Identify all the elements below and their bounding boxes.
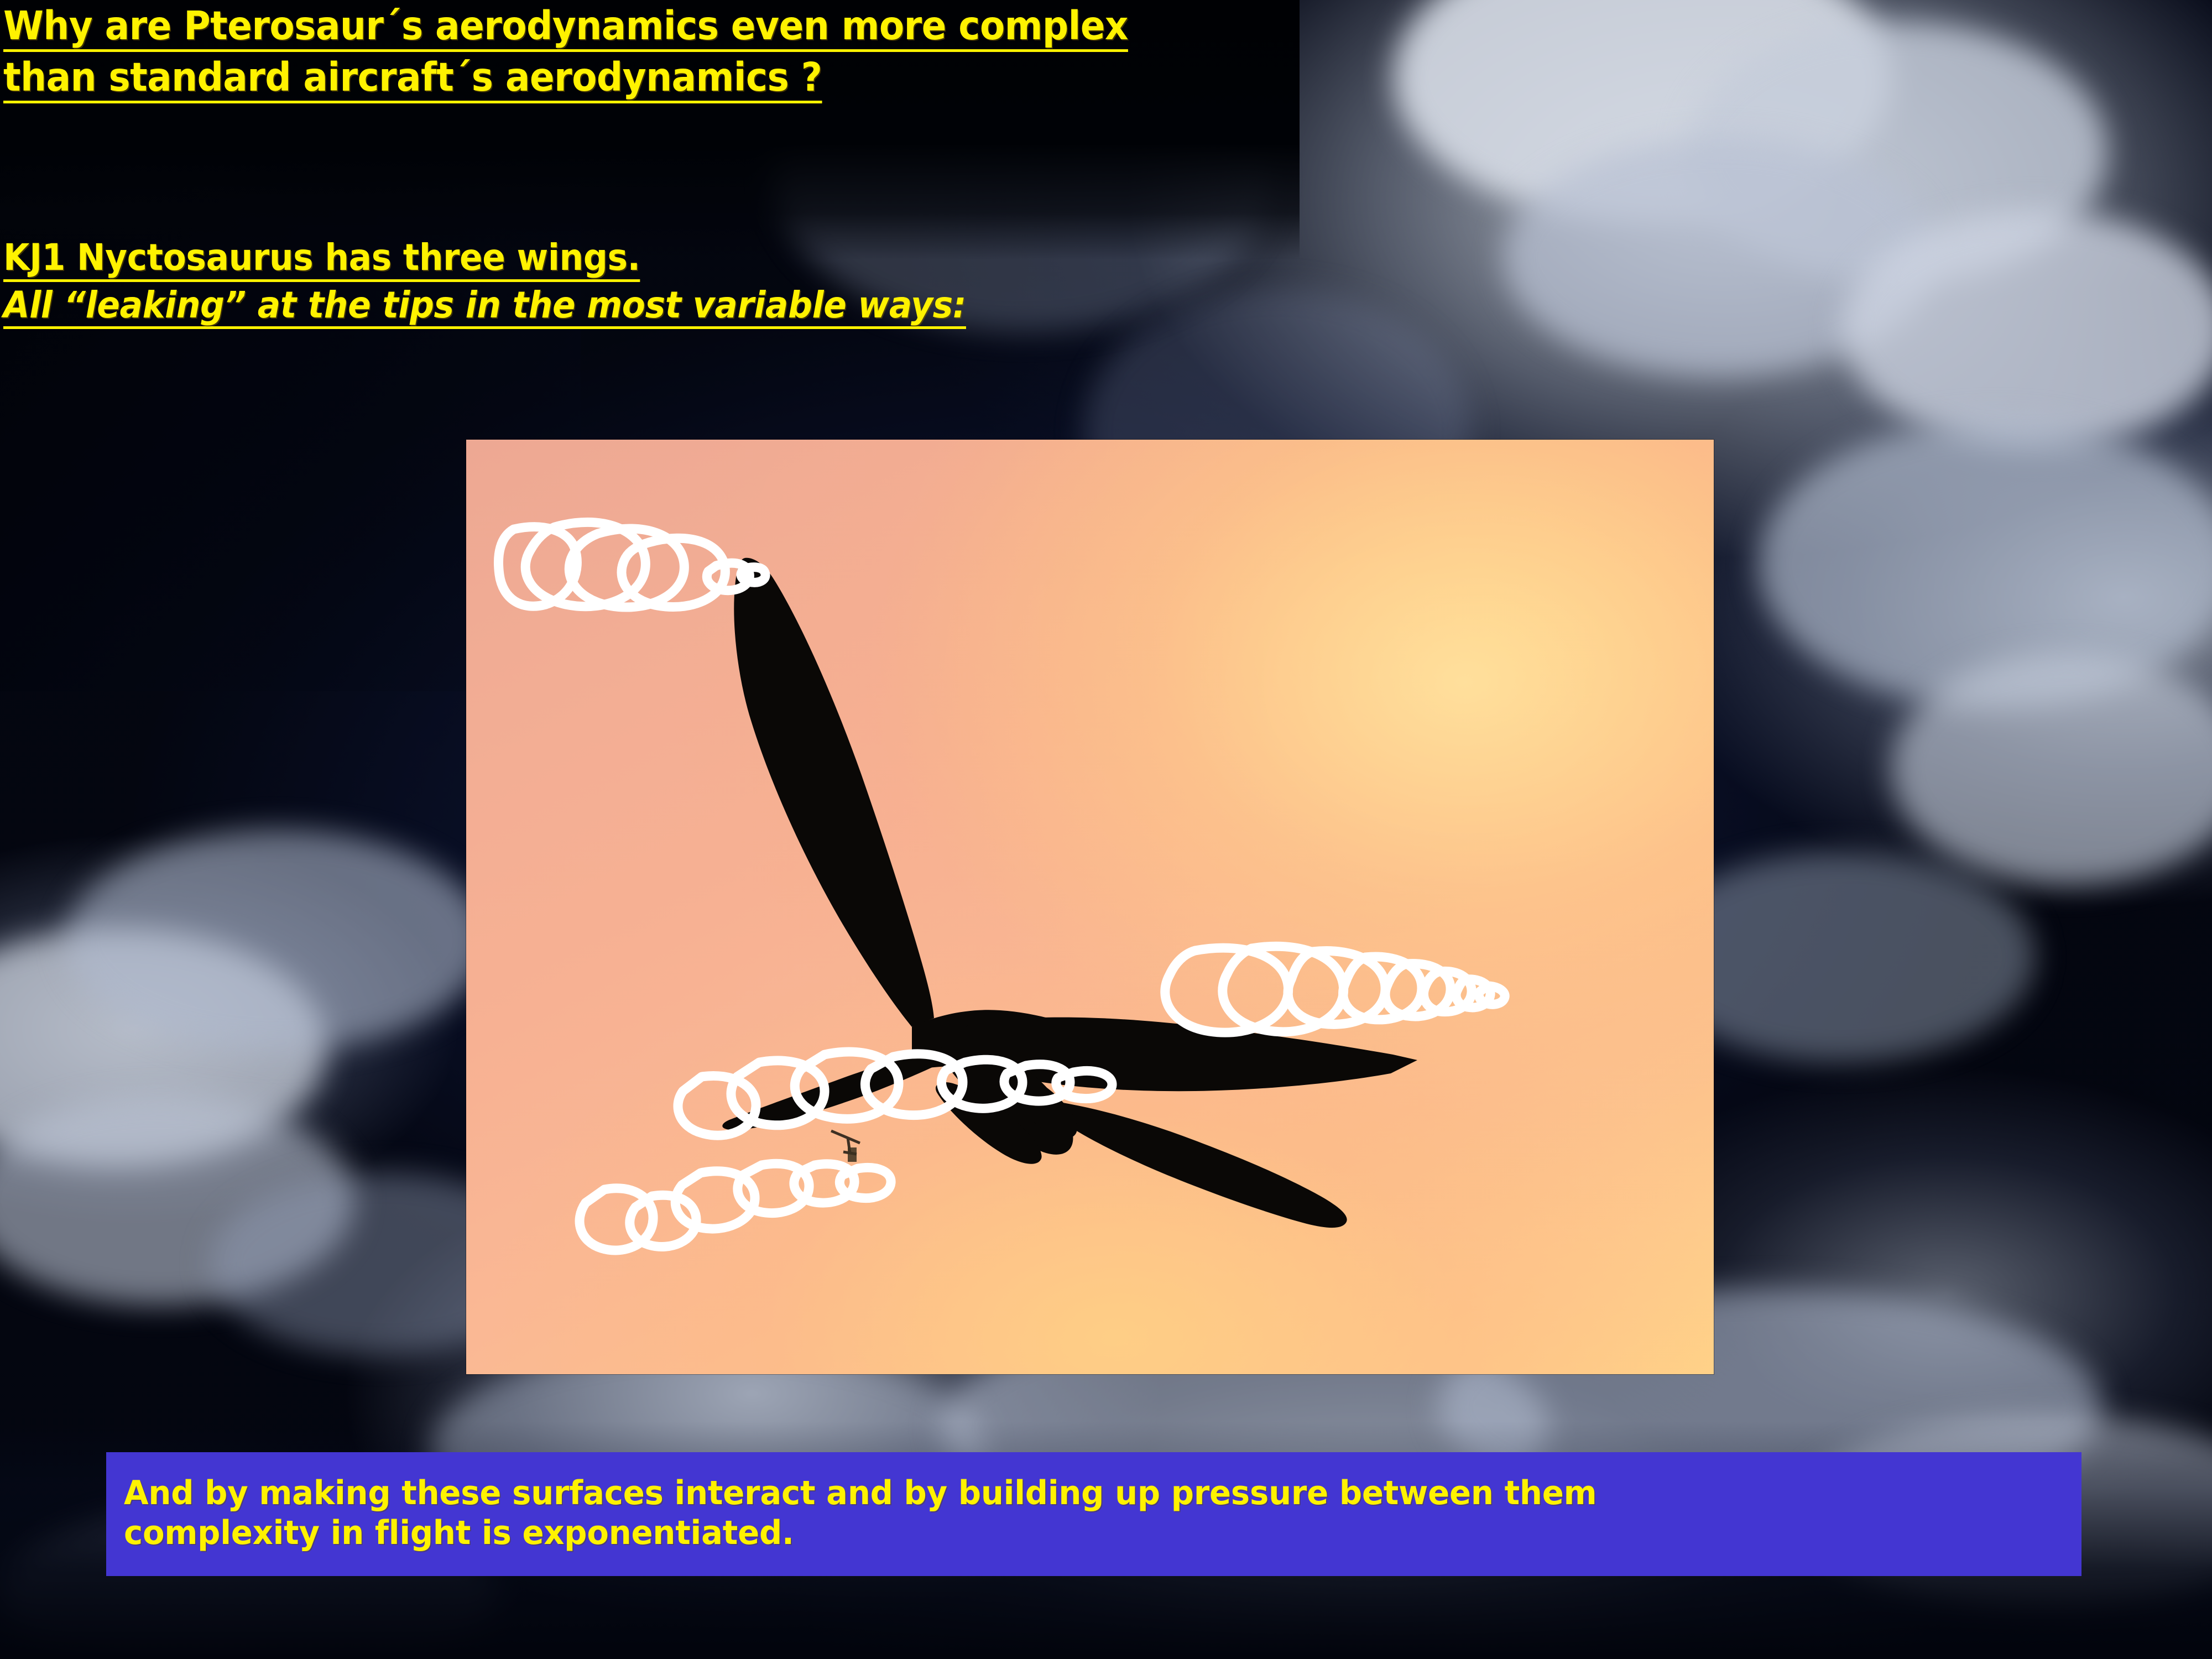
heading-block: Why are Pterosaur´s aerodynamics even mo… <box>3 4 1213 107</box>
heading-line-1: Why are Pterosaur´s aerodynamics even mo… <box>3 4 1128 52</box>
pterosaur-silhouette-svg <box>466 440 1714 1374</box>
caption-box: And by making these surfaces interact an… <box>106 1452 2081 1576</box>
heading-line-2: than standard aircraft´s aerodynamics ? <box>3 56 822 103</box>
caption-line-1: And by making these surfaces interact an… <box>124 1473 2003 1513</box>
pterosaur-foot <box>848 1147 857 1162</box>
subheading-block: KJ1 Nyctosaurus has three wings. All “le… <box>3 238 1039 332</box>
slide-canvas: Why are Pterosaur´s aerodynamics even mo… <box>0 0 2212 1659</box>
pterosaur-photo <box>466 440 1714 1374</box>
subheading-line-1: KJ1 Nyctosaurus has three wings. <box>3 238 640 282</box>
caption-line-2: complexity in flight is exponentiated. <box>124 1513 2003 1553</box>
subheading-line-2: All “leaking” at the tips in the most va… <box>3 285 966 330</box>
